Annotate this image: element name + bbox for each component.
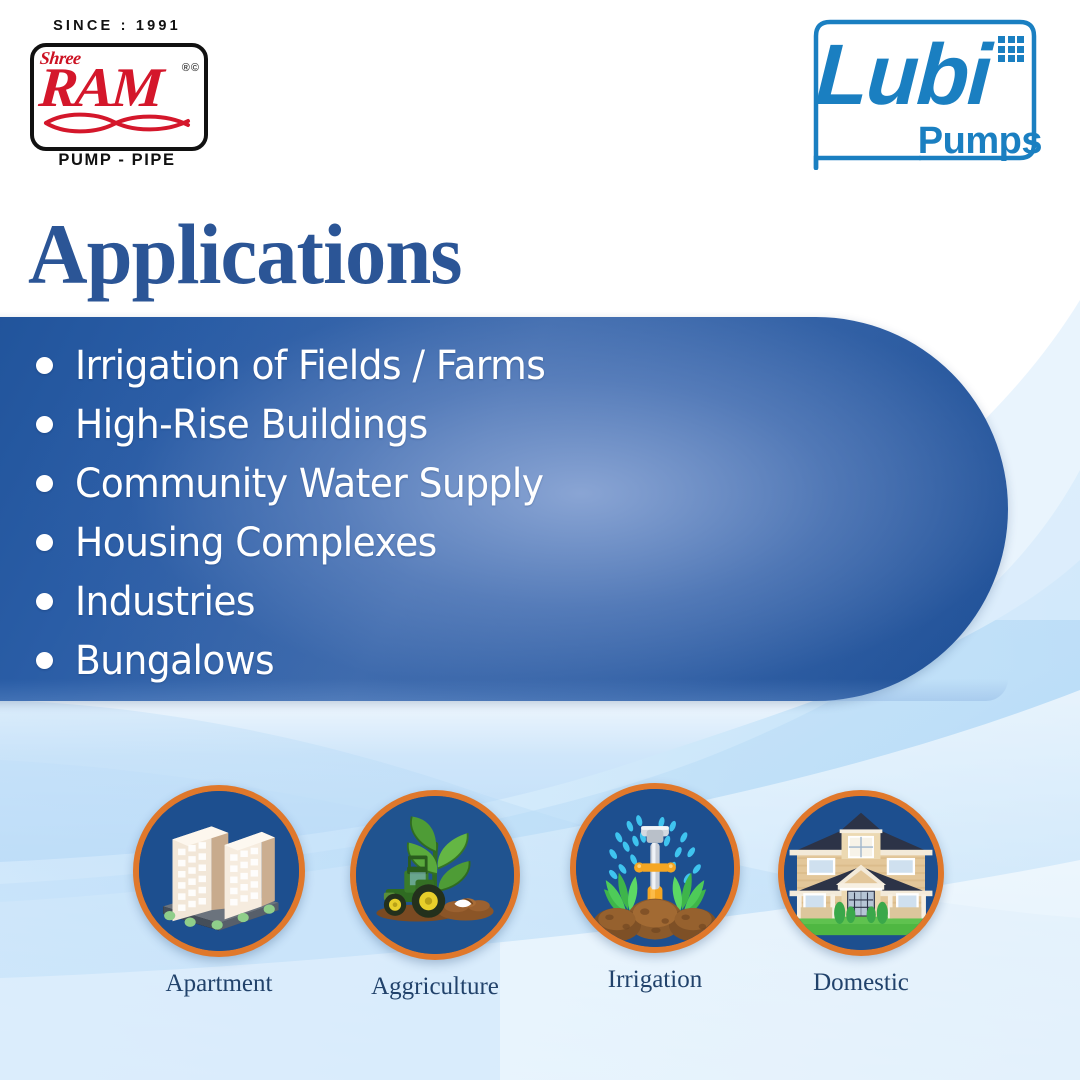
logo-flourish-icon: [42, 110, 192, 136]
application-item-domestic[interactable]: Domestic: [778, 790, 944, 998]
list-item-label: Community Water Supply: [75, 462, 543, 506]
bullet-dot-icon: [36, 357, 53, 374]
logo-grid-icon: [998, 36, 1024, 62]
domestic-circle[interactable]: [778, 790, 944, 956]
logo-lubi-text: Lubi: [814, 32, 992, 118]
application-item-agriculture[interactable]: Aggriculture: [350, 790, 520, 1002]
page-title: Applications: [28, 208, 462, 300]
list-item-label: High-Rise Buildings: [75, 403, 428, 447]
lubi-pumps-logo: Lubi Pumps: [794, 18, 1056, 170]
logo-pumps-text: Pumps: [918, 122, 1042, 160]
trademark-marks: ®©: [182, 62, 200, 74]
bullet-dot-icon: [36, 534, 53, 551]
list-item: High-Rise Buildings: [28, 395, 888, 454]
list-item: Housing Complexes: [28, 513, 888, 572]
bullet-dot-icon: [36, 416, 53, 433]
shree-ram-logo: SINCE : 1991 Shree RAM ®© PUMP - PIPE: [18, 18, 216, 168]
logo-ram-text: RAM: [37, 60, 162, 116]
apartment-buildings-icon: [139, 791, 299, 951]
application-item-apartment[interactable]: Apartment: [133, 785, 305, 999]
application-label: Domestic: [778, 968, 944, 998]
application-label: Aggriculture: [350, 972, 520, 1002]
tractor-crop-icon: [356, 796, 514, 954]
list-item: Irrigation of Fields / Farms: [28, 336, 888, 395]
applications-list: Irrigation of Fields / Farms High-Rise B…: [28, 336, 888, 690]
irrigation-circle[interactable]: [570, 783, 740, 953]
list-item: Bungalows: [28, 631, 888, 690]
application-item-irrigation[interactable]: Irrigation: [570, 783, 740, 995]
agriculture-circle[interactable]: [350, 790, 520, 960]
list-item-label: Irrigation of Fields / Farms: [75, 344, 545, 388]
poster-canvas: SINCE : 1991 Shree RAM ®© PUMP - PIPE Lu…: [0, 0, 1080, 1080]
application-label: Irrigation: [570, 965, 740, 995]
list-item-label: Bungalows: [75, 639, 274, 683]
logo-since-text: SINCE : 1991: [18, 18, 216, 34]
list-item-label: Housing Complexes: [75, 521, 437, 565]
application-label: Apartment: [133, 969, 305, 999]
list-item-label: Industries: [75, 580, 255, 624]
logo-tagline: PUMP - PIPE: [18, 151, 216, 170]
sprinkler-icon: [576, 789, 734, 947]
house-icon: [784, 796, 938, 950]
list-item: Community Water Supply: [28, 454, 888, 513]
bullet-dot-icon: [36, 593, 53, 610]
bullet-dot-icon: [36, 652, 53, 669]
bullet-dot-icon: [36, 475, 53, 492]
list-item: Industries: [28, 572, 888, 631]
apartment-circle[interactable]: [133, 785, 305, 957]
